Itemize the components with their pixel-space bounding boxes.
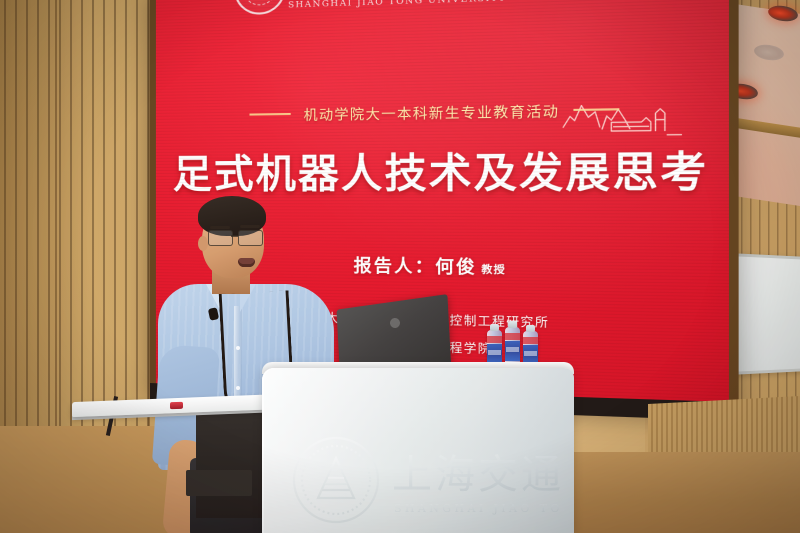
wall-whiteboard (728, 253, 800, 375)
presenter-brow (240, 225, 260, 228)
screenshot-root: 上海交通大学 SHANGHAI JIAO TONG UNIVERSITY (0, 0, 800, 533)
bottle-stripe (487, 336, 502, 343)
rule-left (250, 113, 291, 115)
speaker-name: 报告人：何俊 (354, 256, 477, 277)
speaker-rank: 教授 (481, 265, 505, 277)
baseboard (648, 396, 800, 460)
bottle-label (487, 344, 502, 364)
lectern-brand-cn: 上海交通大学 (392, 452, 562, 498)
glasses-lens-left (208, 230, 233, 246)
bottle-stripe (505, 333, 520, 340)
bottle-label (505, 341, 520, 361)
screen-subtitle: 机动学院大一本科新生专业教育活动 (304, 99, 560, 124)
bottle-cap-icon (508, 321, 517, 328)
keyboard[interactable] (186, 470, 252, 496)
red-presenter-clicker[interactable] (170, 402, 183, 409)
presenter-ear (198, 236, 208, 251)
bottle-stripe (523, 337, 538, 344)
bottle-cap-icon (526, 325, 535, 332)
presenter-brow (210, 226, 230, 229)
bottle-cap-icon (490, 324, 499, 331)
glasses-bridge (231, 235, 238, 237)
screen-brand-header: 上海交通大学 SHANGHAI JIAO TONG UNIVERSITY (248, 0, 549, 12)
glasses-icon (208, 230, 266, 245)
presenter-mouth (238, 258, 255, 267)
glasses-lens-right (238, 230, 263, 246)
rule-right (573, 109, 619, 111)
screen-main-title: 足式机器人技术及发展思考 (156, 139, 729, 201)
lectern-brand-en: SHANGHAI JIAO TONG UNIVERSITY (394, 502, 562, 515)
sjtu-emblem-embossed-icon: 上海交通大学 SHANGHAI JIAO TONG UNIVERSITY (292, 432, 562, 528)
screen-brand-en: SHANGHAI JIAO TONG UNIVERSITY (248, 0, 549, 12)
